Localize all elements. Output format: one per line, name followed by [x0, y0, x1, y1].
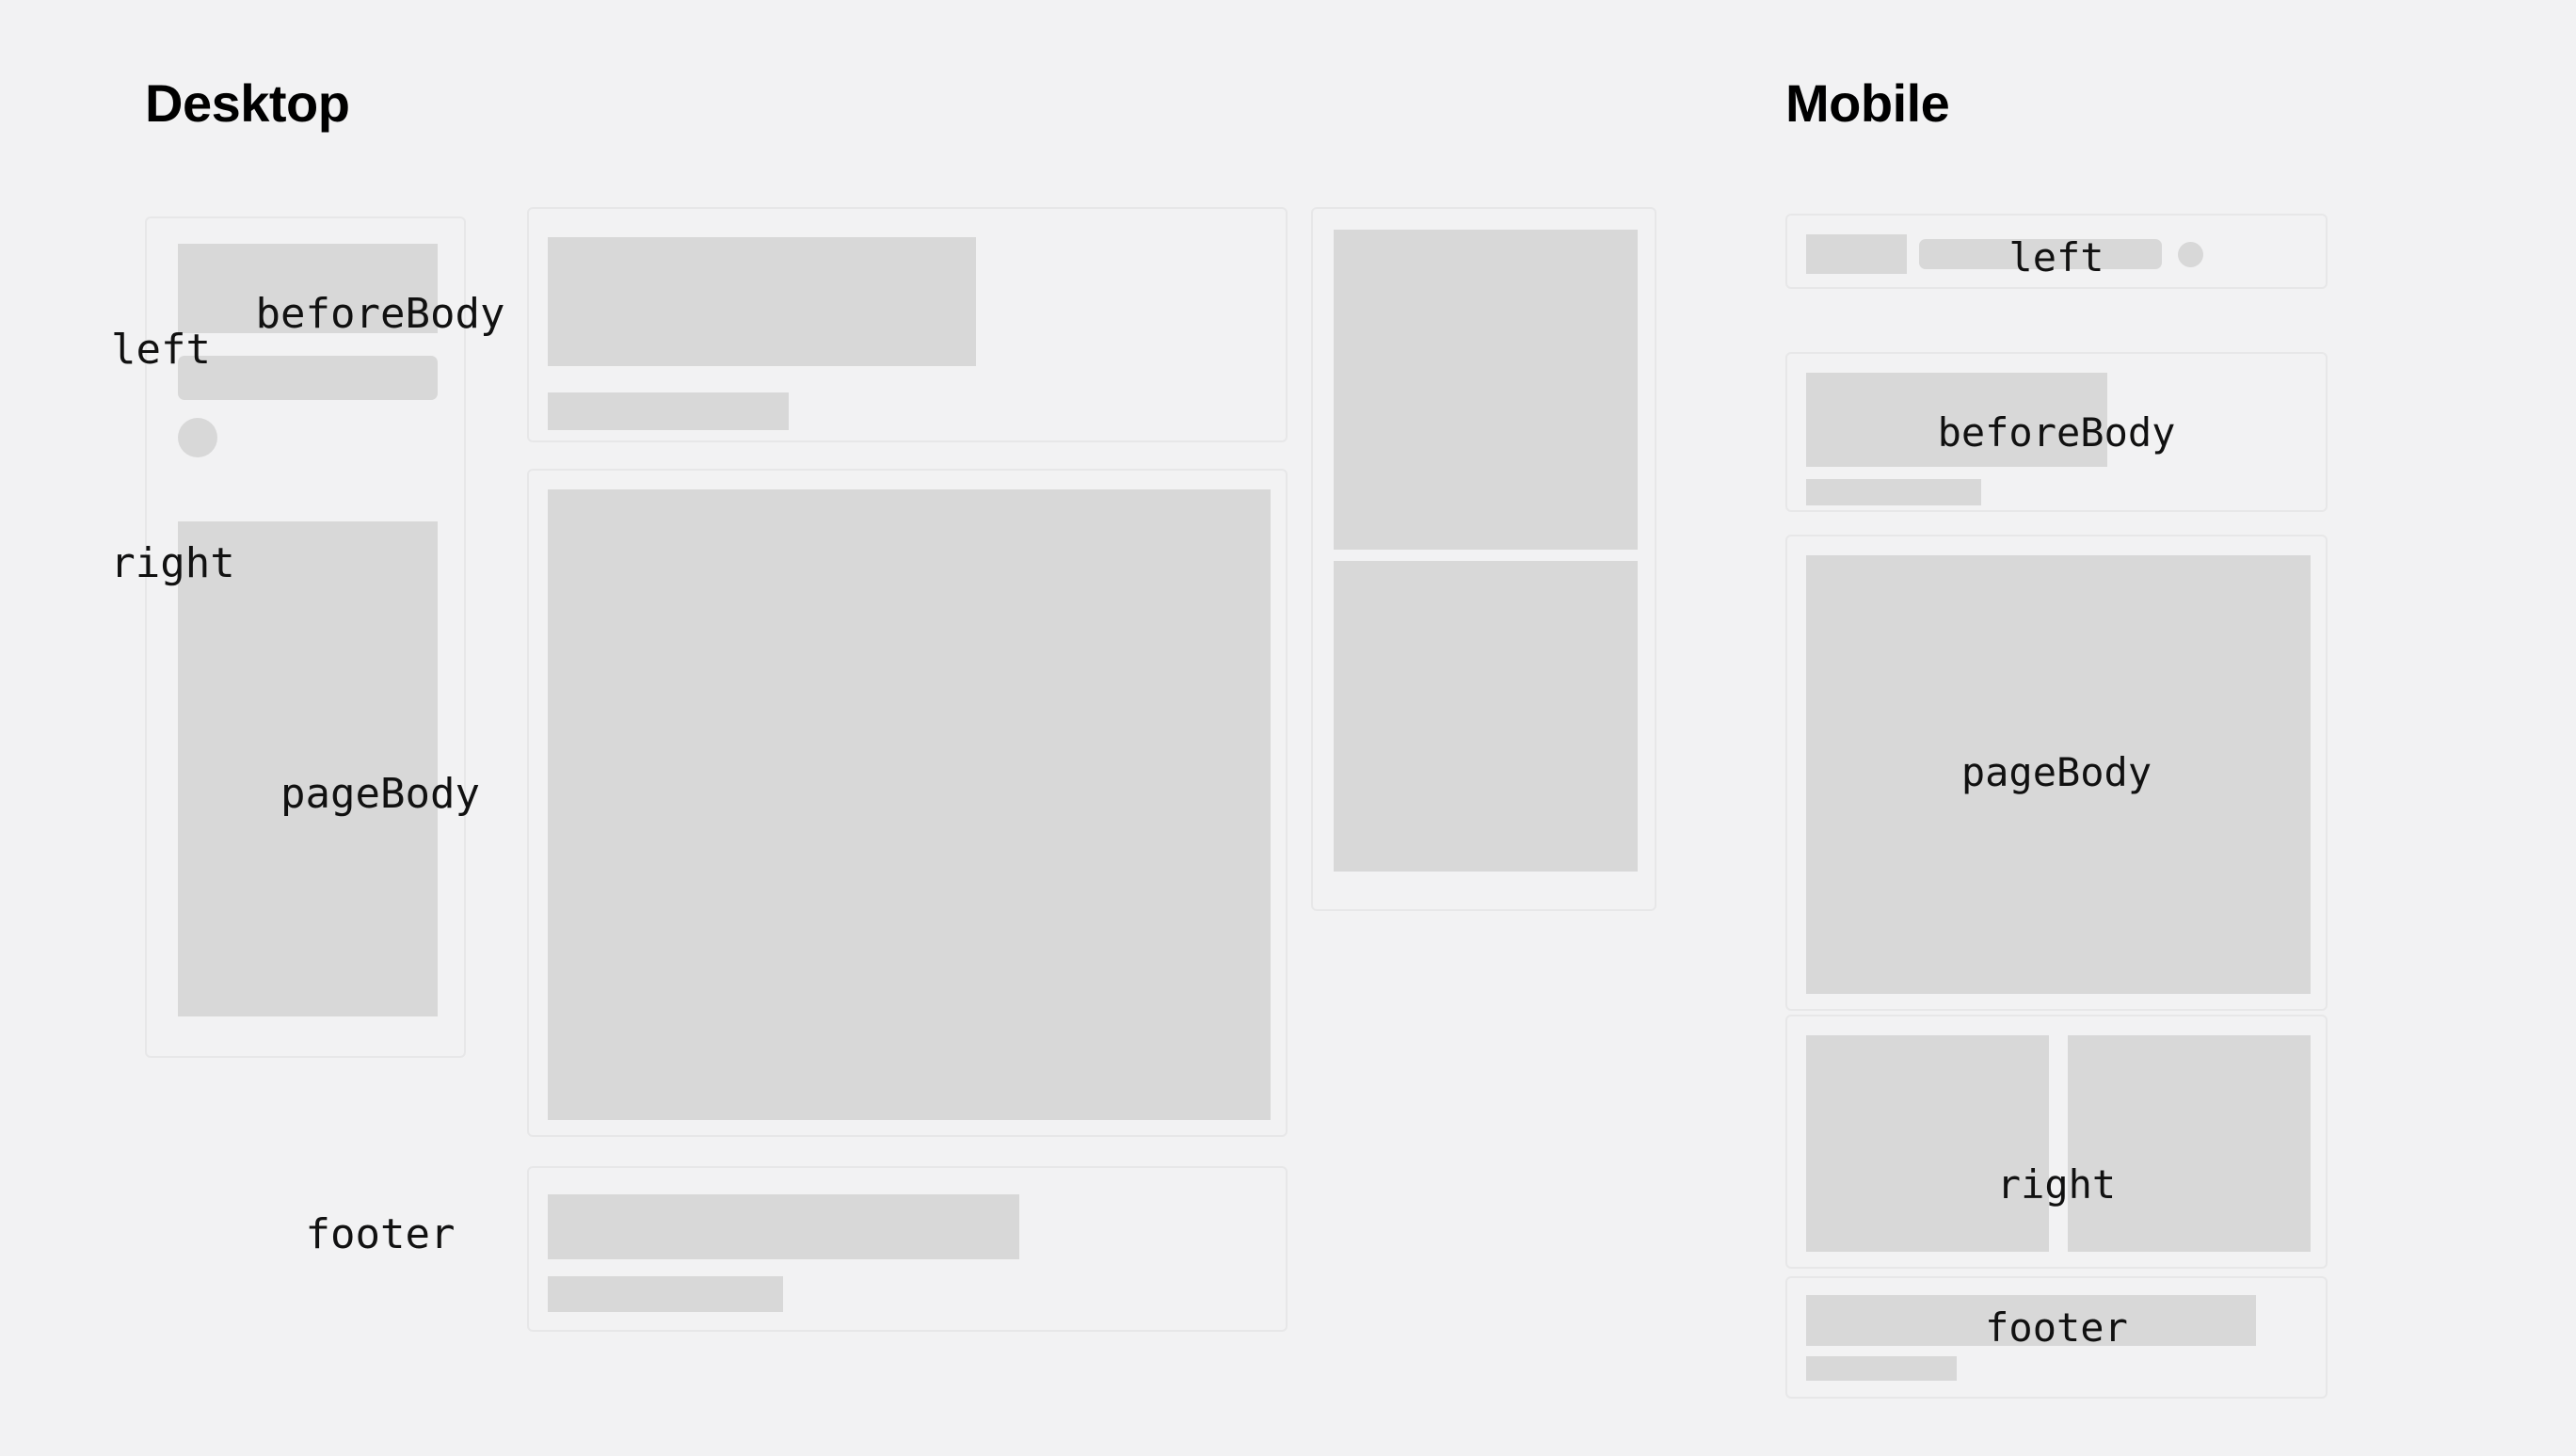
layout-preview-stage: Desktop left beforeBody pageBody footer … [0, 0, 2576, 1456]
desktop-left-region-label: left [31, 329, 291, 371]
desktop-footer-subline-block [548, 1276, 783, 1312]
desktop-footer-region-label: footer [19, 1214, 742, 1256]
desktop-right-region-card[interactable] [1311, 207, 1656, 911]
mobile-right-left-block [1806, 1035, 2049, 1252]
mobile-footer-region-label: footer [1785, 1308, 2328, 1348]
mobile-beforebody-region-label: beforeBody [1785, 413, 2328, 453]
desktop-beforebody-region-label: beforeBody [19, 294, 742, 335]
desktop-right-lower-block [1334, 561, 1638, 872]
desktop-section-title: Desktop [145, 77, 349, 130]
desktop-right-upper-block [1334, 230, 1638, 550]
mobile-pagebody-region-label: pageBody [1785, 753, 2328, 792]
mobile-beforebody-subline-block [1806, 479, 1981, 505]
desktop-left-content-block [178, 521, 438, 1016]
desktop-right-region-label: right [21, 543, 325, 584]
mobile-left-region-label: left [1785, 238, 2328, 278]
mobile-footer-subline-block [1806, 1356, 1957, 1381]
mobile-section-title: Mobile [1785, 77, 1949, 130]
mobile-right-region-label: right [1785, 1165, 2328, 1205]
desktop-pagebody-region-label: pageBody [19, 774, 742, 815]
mobile-right-right-block [2068, 1035, 2311, 1252]
mobile-right-region-card[interactable] [1785, 1015, 2328, 1269]
desktop-left-avatar-circle [178, 418, 217, 457]
desktop-beforebody-subline-block [548, 392, 789, 430]
